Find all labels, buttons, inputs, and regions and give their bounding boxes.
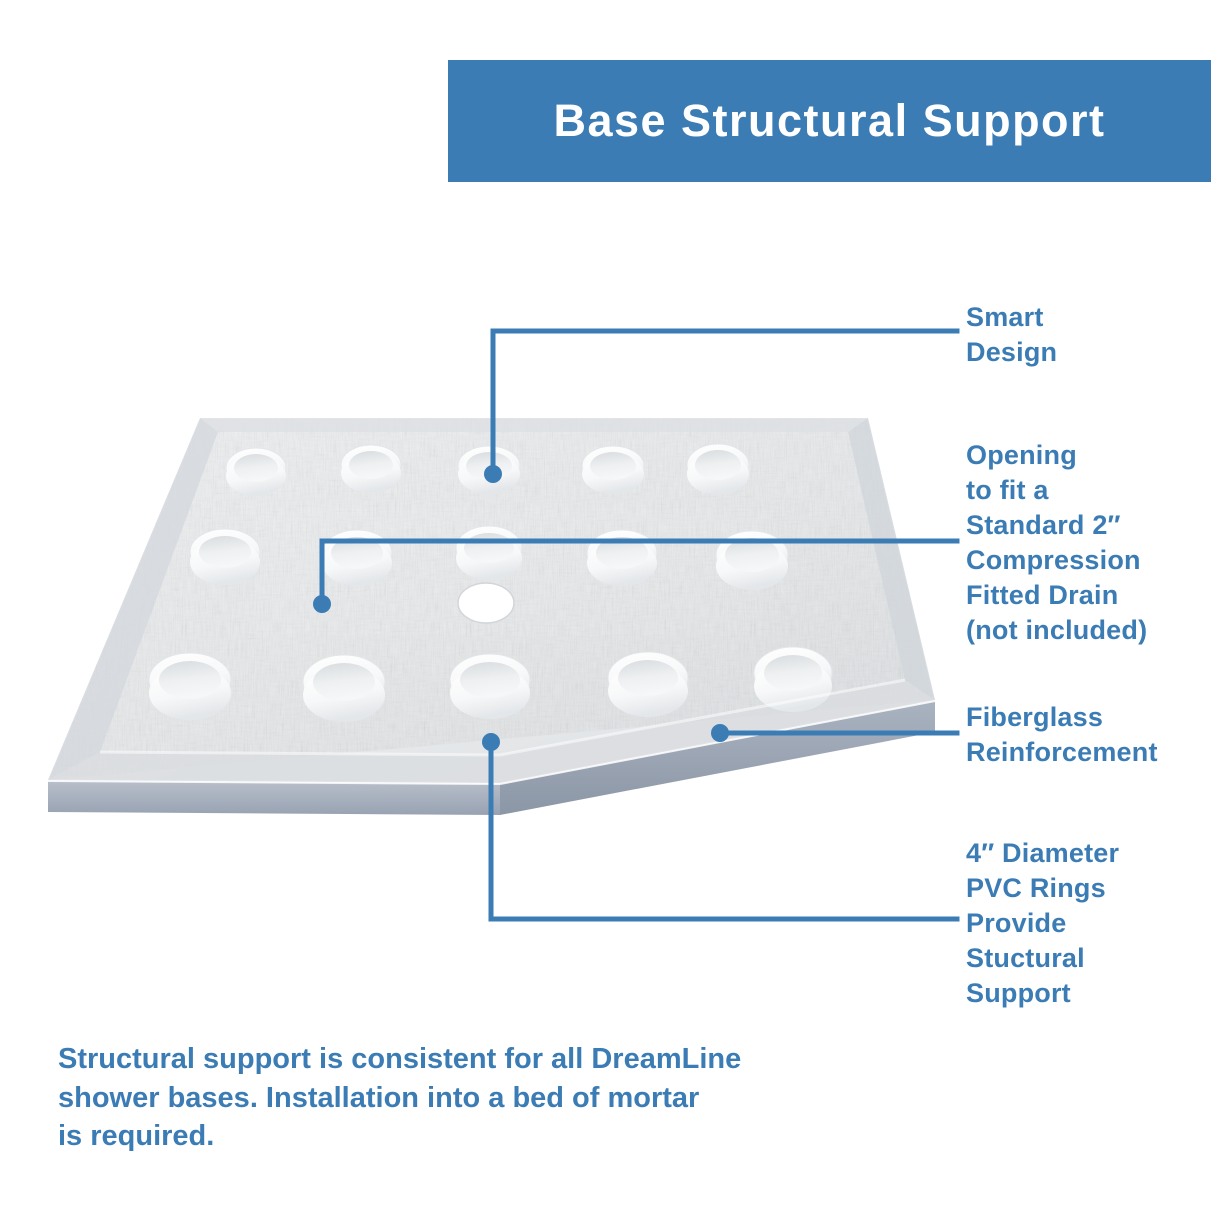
pvc-ring: [582, 446, 644, 494]
page-title: Base Structural Support: [553, 95, 1105, 147]
pvc-ring: [608, 652, 688, 717]
pvc-ring: [716, 531, 788, 590]
pvc-ring: [687, 444, 749, 495]
product-feature-diagram: Base Structural Support: [0, 0, 1214, 1214]
pvc-ring: [149, 653, 231, 720]
callout-smart-design: Smart Design: [966, 300, 1211, 370]
pvc-ring: [587, 530, 657, 586]
title-banner: Base Structural Support: [448, 60, 1211, 182]
shower-base-illustration: [0, 380, 980, 850]
pvc-ring: [322, 530, 392, 586]
pvc-ring: [456, 526, 522, 580]
callout-pvc-rings: 4″ Diameter PVC Rings Provide Stuctural …: [966, 836, 1214, 1011]
footer-note: Structural support is consistent for all…: [58, 1040, 818, 1156]
callout-drain-opening: Opening to fit a Standard 2″ Compression…: [966, 438, 1214, 649]
pvc-ring: [450, 654, 530, 719]
shower-base-3d-svg: [0, 380, 980, 850]
callout-fiberglass-reinforcement: Fiberglass Reinforcement: [966, 700, 1214, 770]
base-side-left: [48, 780, 500, 815]
pvc-ring: [458, 446, 520, 494]
drain-opening: [458, 583, 514, 623]
base-back-wall: [200, 418, 868, 432]
pvc-ring: [226, 448, 286, 496]
pvc-ring: [341, 445, 401, 493]
pvc-ring: [303, 655, 385, 722]
pvc-ring: [190, 529, 260, 585]
